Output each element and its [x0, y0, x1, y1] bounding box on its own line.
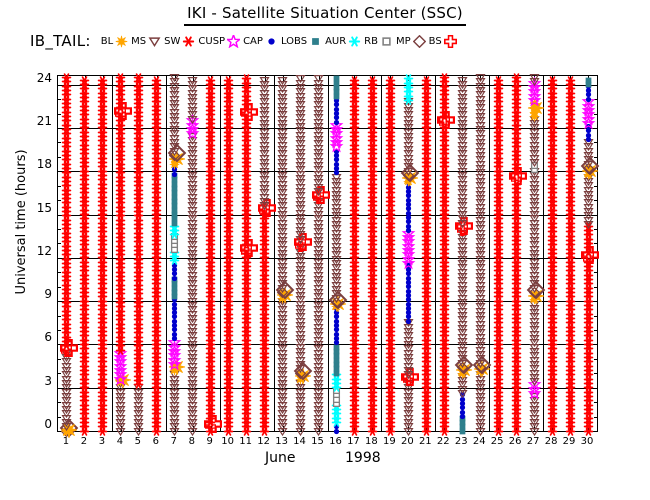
- region-marker: [509, 77, 523, 78]
- region-marker: [276, 80, 290, 81]
- region-boundary-marker: [527, 108, 541, 109]
- page-title: IKI - Satellite Situation Center (SSC): [0, 4, 650, 26]
- region-marker: [419, 80, 433, 81]
- region-marker: [258, 80, 272, 81]
- y-axis-tick-label: 3: [14, 376, 52, 386]
- legend-item-sw: SW: [164, 34, 197, 49]
- legend-item-cusp: CUSP: [198, 34, 242, 49]
- region-marker: [114, 77, 128, 78]
- diamond-icon: [412, 34, 427, 49]
- day-column: [186, 76, 200, 431]
- day-column: [563, 76, 577, 431]
- x-axis-tick-label: 30: [575, 436, 599, 447]
- region-marker: [491, 80, 505, 81]
- region-marker: [294, 78, 308, 79]
- legend-item-ms: MS: [131, 34, 163, 49]
- day-column: [437, 76, 451, 431]
- ssc-plot-page: IKI - Satellite Situation Center (SSC) I…: [0, 0, 650, 500]
- plot-area: [57, 75, 598, 432]
- x-axis-month-label: June: [265, 450, 296, 466]
- region-marker: [96, 80, 110, 81]
- day-column: [365, 76, 379, 431]
- legend-item-label: LOBS: [281, 36, 307, 47]
- legend: IB_TAIL: BLMSSWCUSPCAPLOBSAURRBMPBS: [30, 31, 460, 51]
- day-column: [114, 76, 128, 431]
- legend-title: IB_TAIL:: [30, 32, 91, 50]
- y-axis-tick-label: 24: [14, 73, 52, 83]
- legend-item-label: AUR: [325, 36, 346, 47]
- day-column: [383, 76, 397, 431]
- filled-circle-icon: [264, 34, 279, 49]
- day-column: [491, 76, 505, 431]
- legend-item-rb: RB: [364, 34, 395, 49]
- y-axis-tick-label: 6: [14, 332, 52, 342]
- legend-item-aur: AUR: [325, 34, 363, 49]
- x-gridline: [328, 76, 329, 431]
- legend-item-label: SW: [164, 36, 180, 47]
- day-column: [60, 76, 74, 431]
- five-point-star-icon: [226, 34, 241, 49]
- triangle-down-icon: [147, 34, 162, 49]
- y-axis-tick-label: 21: [14, 116, 52, 126]
- day-column: [473, 76, 487, 431]
- region-marker: [240, 78, 254, 79]
- legend-item-label: RB: [364, 36, 378, 47]
- region-marker: [329, 78, 343, 79]
- day-column: [527, 76, 541, 431]
- legend-items: BLMSSWCUSPCAPLOBSAURRBMPBS: [101, 34, 460, 49]
- x-gridline: [166, 76, 167, 431]
- region-marker: [473, 77, 487, 78]
- filled-square-icon: [308, 34, 323, 49]
- asterisk-icon: [181, 34, 196, 49]
- x-gridline: [435, 76, 436, 431]
- y-axis-tick-label: 9: [14, 289, 52, 299]
- day-column: [78, 76, 92, 431]
- day-column: [222, 76, 236, 431]
- day-column: [455, 76, 469, 431]
- legend-item-label: BS: [429, 36, 442, 47]
- region-marker: [581, 80, 595, 81]
- day-column: [401, 76, 415, 431]
- region-marker: [527, 77, 541, 78]
- legend-item-bs: BS: [429, 34, 459, 49]
- day-column: [545, 76, 559, 431]
- day-column: [132, 76, 146, 431]
- legend-item-label: CUSP: [198, 36, 225, 47]
- region-marker: [312, 78, 326, 79]
- y-axis-tick-label: 12: [14, 246, 52, 256]
- region-marker: [186, 80, 200, 81]
- y-axis-tick-label: 0: [14, 419, 52, 429]
- legend-item-cap: CAP: [243, 34, 280, 49]
- day-column: [347, 76, 361, 431]
- region-marker: [78, 80, 92, 81]
- x-gridline: [381, 76, 382, 431]
- legend-item-bl: BL: [101, 34, 130, 49]
- day-column: [276, 76, 290, 431]
- region-marker: [437, 77, 451, 78]
- region-marker: [132, 77, 146, 78]
- region-marker: [222, 80, 236, 81]
- x-gridline: [220, 76, 221, 431]
- day-column: [204, 76, 218, 431]
- legend-item-label: BL: [101, 36, 113, 47]
- region-marker: [563, 80, 577, 81]
- asterisk-icon: [347, 34, 362, 49]
- legend-item-label: MP: [396, 36, 411, 47]
- region-marker: [383, 80, 397, 81]
- legend-item-label: CAP: [243, 36, 263, 47]
- day-column: [509, 76, 523, 431]
- region-marker: [347, 80, 361, 81]
- eight-point-star-icon: [114, 34, 129, 49]
- region-marker: [545, 80, 559, 81]
- day-column: [258, 76, 272, 431]
- day-column: [96, 76, 110, 431]
- region-marker: [168, 77, 182, 78]
- open-square-icon: [379, 34, 394, 49]
- day-column: [168, 76, 182, 431]
- region-marker: [60, 77, 74, 78]
- region-marker: [455, 80, 469, 81]
- legend-item-label: MS: [131, 36, 146, 47]
- y-axis-tick-label: 15: [14, 203, 52, 213]
- region-marker: [365, 80, 379, 81]
- legend-item-lobs: LOBS: [281, 34, 324, 49]
- day-column: [581, 76, 595, 431]
- day-column: [150, 76, 164, 431]
- y-axis-tick-label: 18: [14, 159, 52, 169]
- x-gridline: [543, 76, 544, 431]
- cross-icon: [443, 34, 458, 49]
- legend-item-mp: MP: [396, 34, 428, 49]
- day-column: [419, 76, 433, 431]
- region-marker: [150, 80, 164, 81]
- day-column: [329, 76, 343, 431]
- region-marker: [401, 78, 415, 79]
- page-title-text: IKI - Satellite Situation Center (SSC): [184, 4, 466, 26]
- x-axis-year-label: 1998: [345, 450, 381, 466]
- region-marker: [204, 80, 218, 81]
- x-gridline: [274, 76, 275, 431]
- x-gridline: [112, 76, 113, 431]
- day-column: [294, 76, 308, 431]
- day-column: [240, 76, 254, 431]
- day-column: [312, 76, 326, 431]
